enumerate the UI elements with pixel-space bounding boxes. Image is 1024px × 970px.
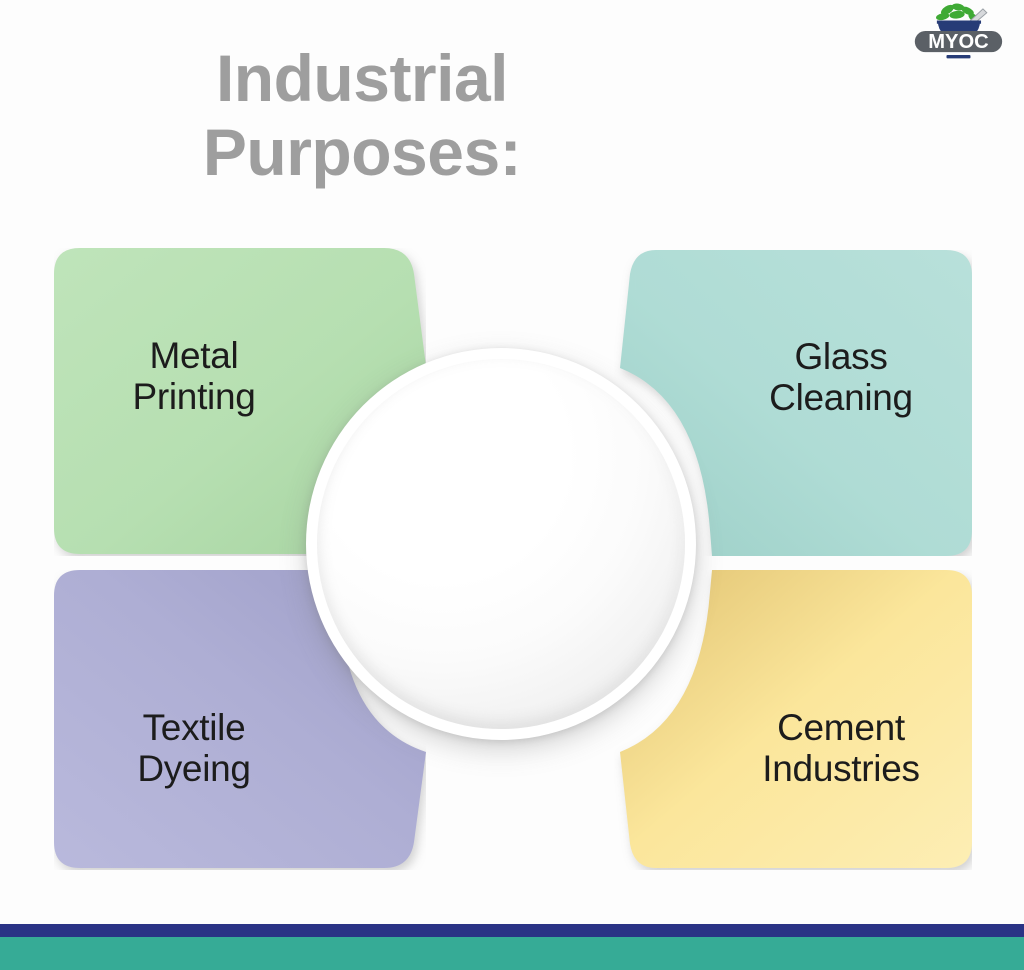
page-title: Industrial Purposes: [0, 42, 1024, 190]
card-textile-dyeing-label: Textile Dyeing [137, 707, 250, 790]
footer-navy-stripe [0, 924, 1024, 937]
page-title-line-2: Purposes: [0, 116, 724, 190]
infographic-canvas: MYOC Industrial Purposes: Metal Printing [0, 0, 1024, 970]
card-cement-industries-label: Cement Industries [762, 707, 919, 790]
card-glass-cleaning-label: Glass Cleaning [769, 336, 913, 419]
page-title-line-1: Industrial [216, 41, 508, 115]
card-metal-printing-label: Metal Printing [132, 335, 255, 418]
center-sphere[interactable] [306, 348, 696, 740]
footer-teal-stripe [0, 937, 1024, 970]
